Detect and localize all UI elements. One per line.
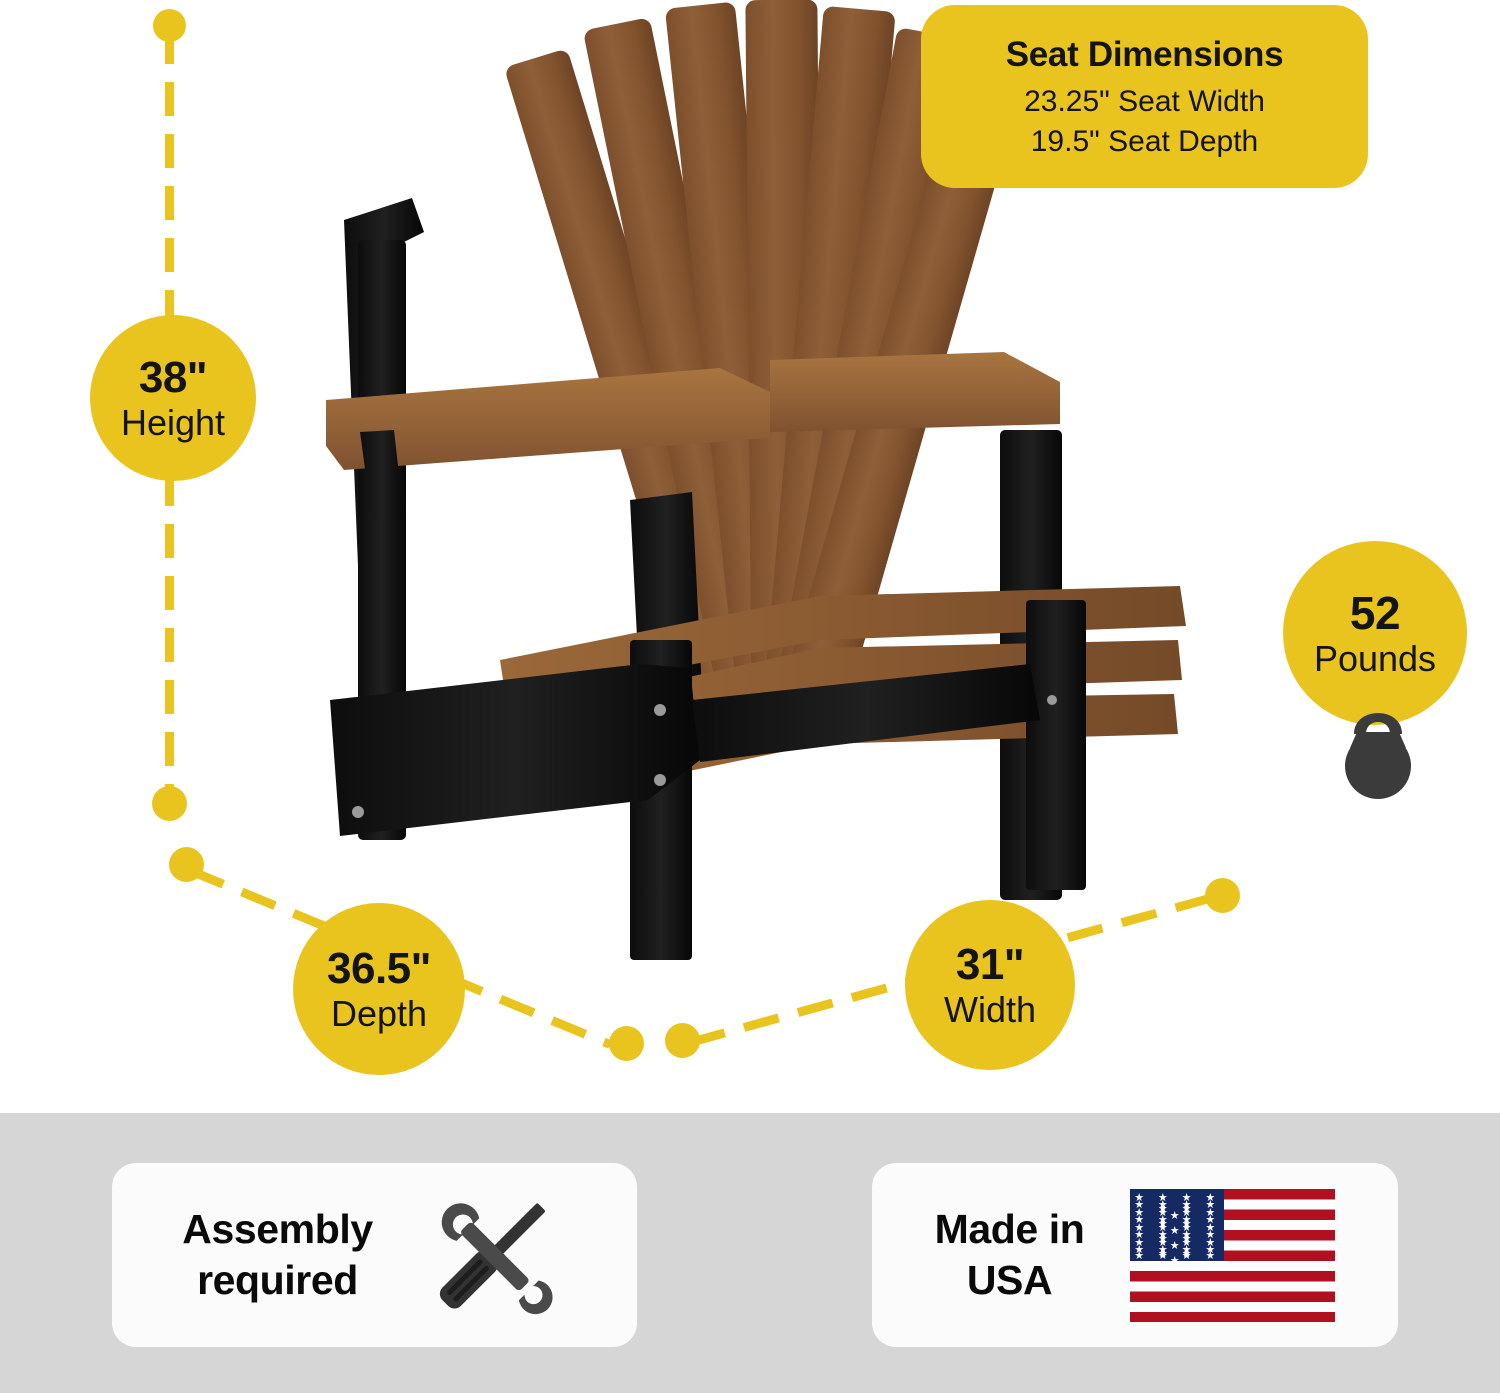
depth-guide-dot-start	[169, 847, 204, 882]
feature-card-made-in-usa: Made in USA ★ ★ ★ ★ ★ ★ ★ ★ ★ ★ ★ ★ ★ ★ …	[872, 1163, 1398, 1347]
callout-height: 38" Height	[90, 315, 256, 481]
feature-card-assembly: Assembly required	[112, 1163, 637, 1347]
seat-dimensions-title: Seat Dimensions	[1006, 35, 1284, 75]
callout-height-label: Height	[121, 405, 225, 441]
callout-depth-value: 36.5"	[327, 947, 431, 991]
flag-star-row: ★ ★ ★ ★ ★ ★	[1130, 1251, 1224, 1273]
assembly-text: Assembly required	[182, 1204, 373, 1307]
assembly-line-1: Assembly	[182, 1204, 373, 1255]
height-guide-dot-top	[153, 9, 186, 42]
callout-width-label: Width	[944, 992, 1036, 1028]
width-guide-dot-start	[665, 1023, 700, 1058]
depth-guide-dot-end	[609, 1026, 644, 1061]
usa-line-1: Made in	[935, 1204, 1085, 1255]
assembly-icon-wrap	[417, 1180, 567, 1330]
product-infographic: Seat Dimensions 23.25" Seat Width 19.5" …	[0, 0, 1500, 1393]
seat-dimensions-width-line: 23.25" Seat Width	[1024, 82, 1265, 123]
chair-front-leg-right	[1026, 600, 1086, 890]
callout-weight-label: Pounds	[1314, 641, 1436, 677]
us-flag-icon: ★ ★ ★ ★ ★ ★ ★ ★ ★ ★ ★ ★ ★ ★ ★ ★ ★ ★ ★ ★ …	[1130, 1189, 1335, 1322]
wrench-screwdriver-icon	[417, 1180, 567, 1330]
seat-dimensions-box: Seat Dimensions 23.25" Seat Width 19.5" …	[921, 5, 1368, 188]
height-guide-dot-bottom	[152, 786, 187, 821]
assembly-line-2: required	[182, 1255, 373, 1306]
callout-height-value: 38"	[139, 356, 207, 400]
callout-depth-label: Depth	[331, 996, 427, 1032]
callout-weight-value: 52	[1350, 590, 1400, 636]
height-guide-line-lower	[165, 472, 174, 802]
usa-text: Made in USA	[935, 1204, 1085, 1307]
height-guide-line-upper	[165, 30, 174, 326]
callout-width: 31" Width	[905, 900, 1075, 1070]
callout-width-value: 31"	[956, 943, 1024, 987]
kettlebell-icon	[1320, 690, 1436, 806]
callout-depth: 36.5" Depth	[293, 903, 465, 1075]
chair-right-arm	[770, 352, 1060, 432]
seat-dimensions-depth-line: 19.5" Seat Depth	[1031, 122, 1258, 163]
usa-icon-wrap: ★ ★ ★ ★ ★ ★ ★ ★ ★ ★ ★ ★ ★ ★ ★ ★ ★ ★ ★ ★ …	[1130, 1189, 1335, 1322]
usa-line-2: USA	[935, 1255, 1085, 1306]
flag-canton: ★ ★ ★ ★ ★ ★ ★ ★ ★ ★ ★ ★ ★ ★ ★ ★ ★ ★ ★ ★ …	[1130, 1189, 1224, 1261]
